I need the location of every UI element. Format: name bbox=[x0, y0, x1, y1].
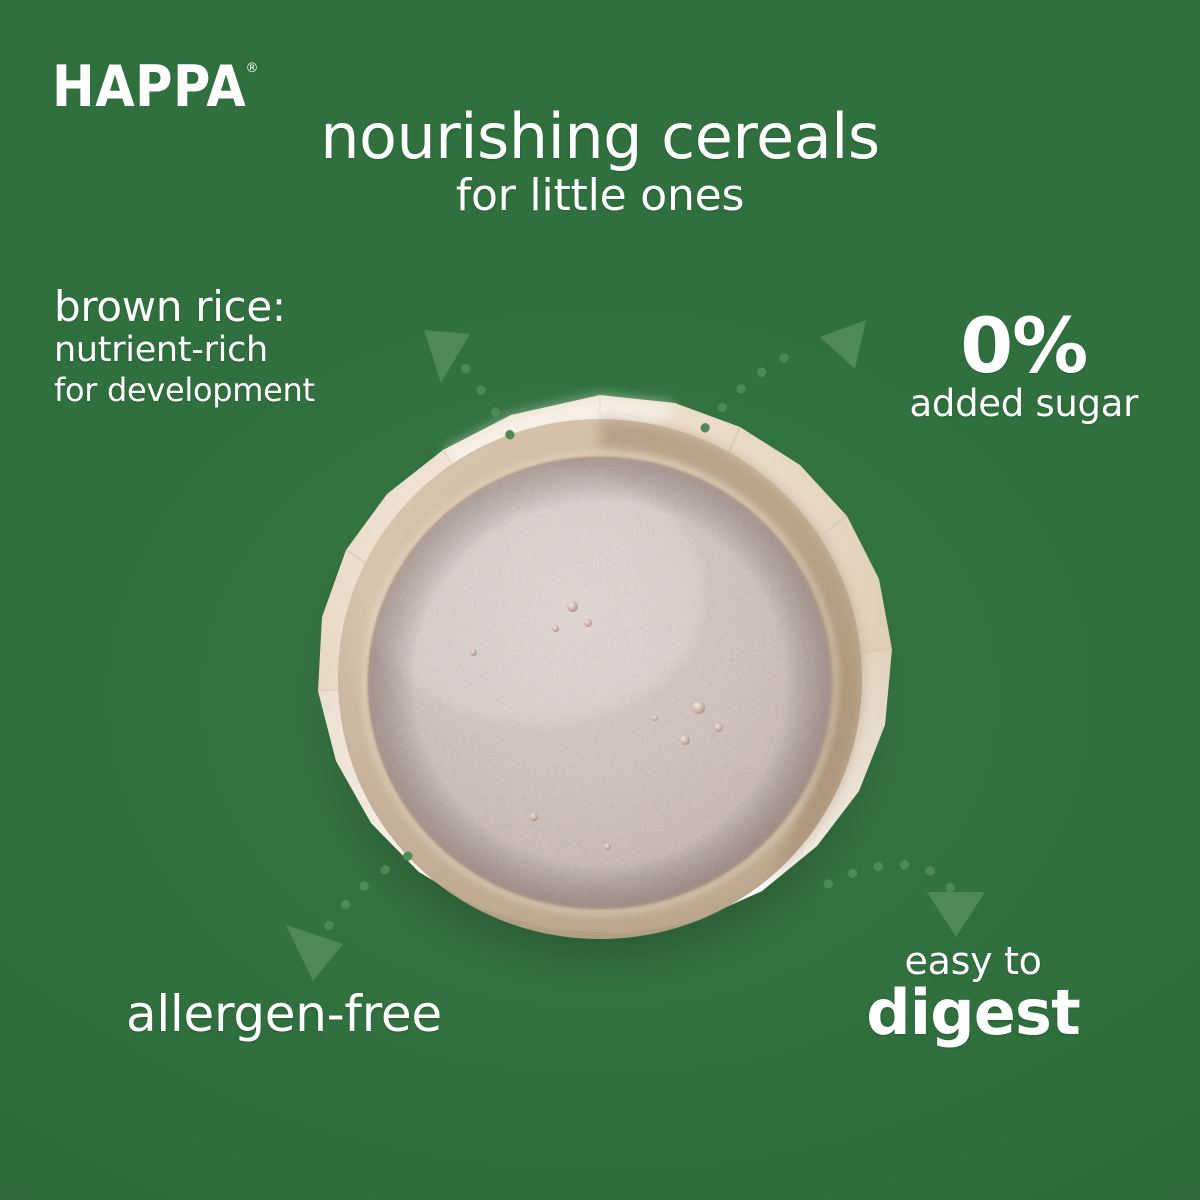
porridge-bubble bbox=[470, 649, 477, 656]
callout-added-sugar-value: 0% bbox=[910, 305, 1138, 387]
porridge-bubble bbox=[692, 701, 705, 714]
brand-logo[interactable]: HAPPA ® bbox=[52, 58, 258, 108]
porridge-bubble bbox=[714, 723, 723, 732]
headline-block: nourishing cereals for little ones bbox=[0, 102, 1200, 222]
callout-added-sugar: 0% added sugar bbox=[910, 305, 1138, 425]
bowl-graphic bbox=[284, 383, 916, 977]
arrow-down-icon bbox=[927, 892, 985, 937]
callout-brown-rice: brown rice: nutrient-rich for developmen… bbox=[54, 284, 315, 409]
callout-brown-rice-line3: for development bbox=[54, 371, 315, 409]
callout-easy-to-digest-line2: digest bbox=[866, 978, 1080, 1048]
arrow-up-left-icon bbox=[424, 330, 470, 383]
page-subtitle: for little ones bbox=[0, 170, 1200, 222]
callout-allergen-free: allergen-free bbox=[126, 985, 442, 1043]
callout-allergen-free-label: allergen-free bbox=[126, 985, 442, 1043]
porridge-bubble bbox=[584, 619, 592, 627]
porridge-bubble bbox=[552, 625, 559, 632]
registered-trademark-icon: ® bbox=[245, 62, 258, 75]
porridge-bubble bbox=[652, 715, 658, 721]
callout-easy-to-digest: easy to digest bbox=[866, 940, 1080, 1048]
callout-added-sugar-label: added sugar bbox=[910, 383, 1138, 425]
callout-brown-rice-line2: nutrient-rich bbox=[54, 330, 315, 371]
porridge-bubble bbox=[567, 601, 578, 612]
callout-brown-rice-line1: brown rice: bbox=[54, 284, 315, 330]
product-infographic-poster: HAPPA ® nourishing cereals for little on… bbox=[0, 0, 1200, 1200]
porridge-bubble bbox=[604, 843, 611, 850]
page-title: nourishing cereals bbox=[0, 102, 1200, 172]
porridge-bubble bbox=[680, 735, 690, 745]
product-bowl-image bbox=[284, 383, 916, 977]
porridge-bubble bbox=[530, 813, 538, 821]
arrow-up-right-icon bbox=[820, 320, 866, 369]
